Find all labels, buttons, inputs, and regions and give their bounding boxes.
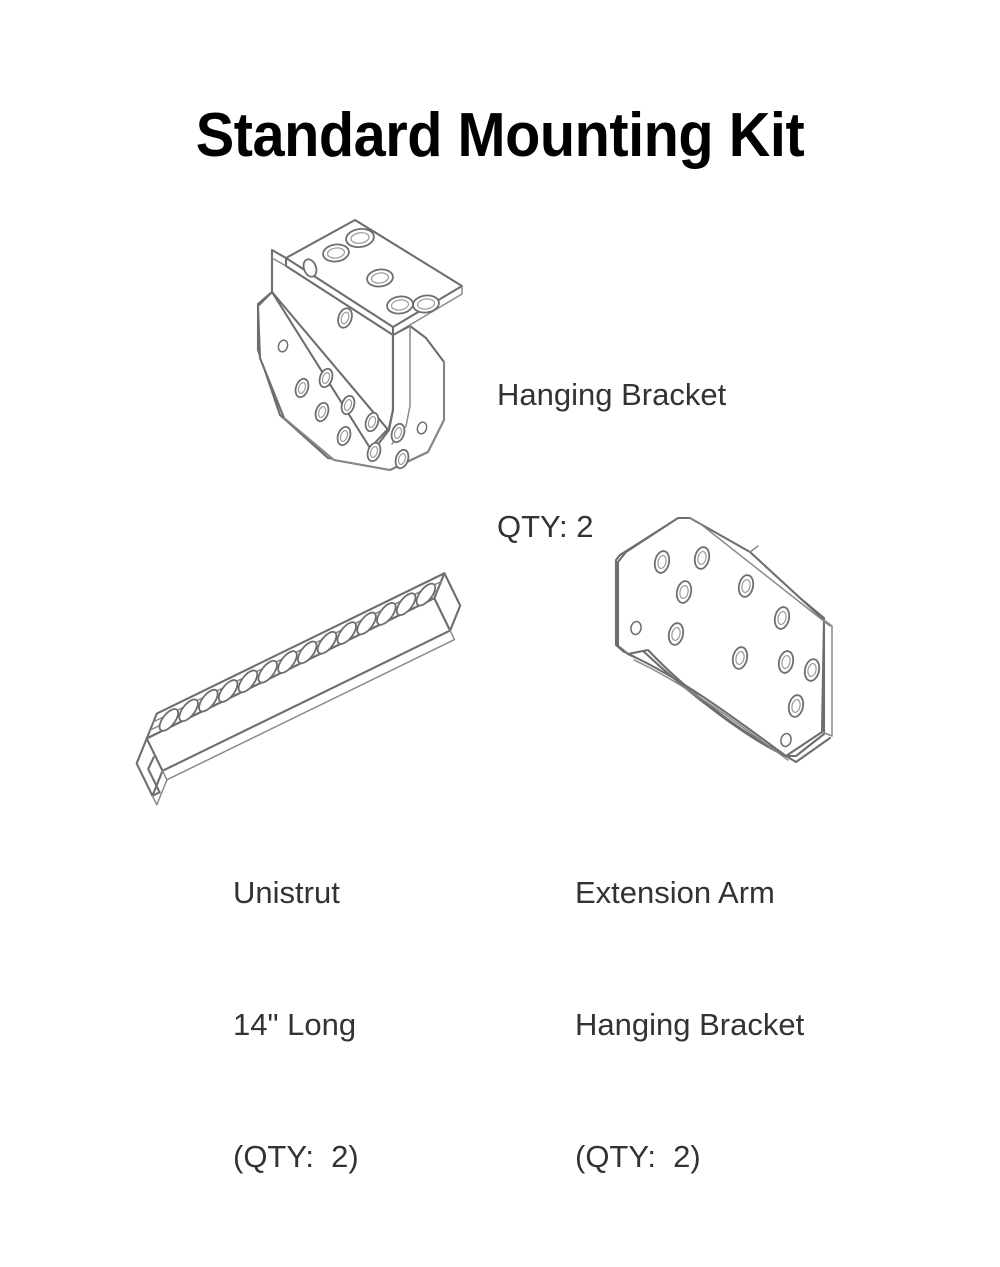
hanging-bracket-name: Hanging Bracket [497, 373, 726, 417]
hanging-bracket-label: Hanging Bracket QTY: 2 [497, 285, 726, 637]
unistrut-length: 14" Long [233, 1003, 359, 1047]
hanging-bracket-qty: QTY: 2 [497, 505, 726, 549]
extension-arm-name-line1: Extension Arm [575, 871, 804, 915]
page-title: Standard Mounting Kit [35, 100, 965, 171]
extension-arm-label: Extension Arm Hanging Bracket (QTY: 2) [575, 783, 804, 1267]
extension-arm-name-line2: Hanging Bracket [575, 1003, 804, 1047]
unistrut-name: Unistrut [233, 871, 359, 915]
hanging-bracket-drawing [250, 200, 480, 490]
unistrut-label: Unistrut 14" Long (QTY: 2) [233, 783, 359, 1267]
parts-kit-illustration: Standard Mounting Kit [0, 0, 1000, 1000]
unistrut-channel-drawing [110, 570, 510, 810]
extension-arm-qty: (QTY: 2) [575, 1135, 804, 1179]
unistrut-qty: (QTY: 2) [233, 1135, 359, 1179]
